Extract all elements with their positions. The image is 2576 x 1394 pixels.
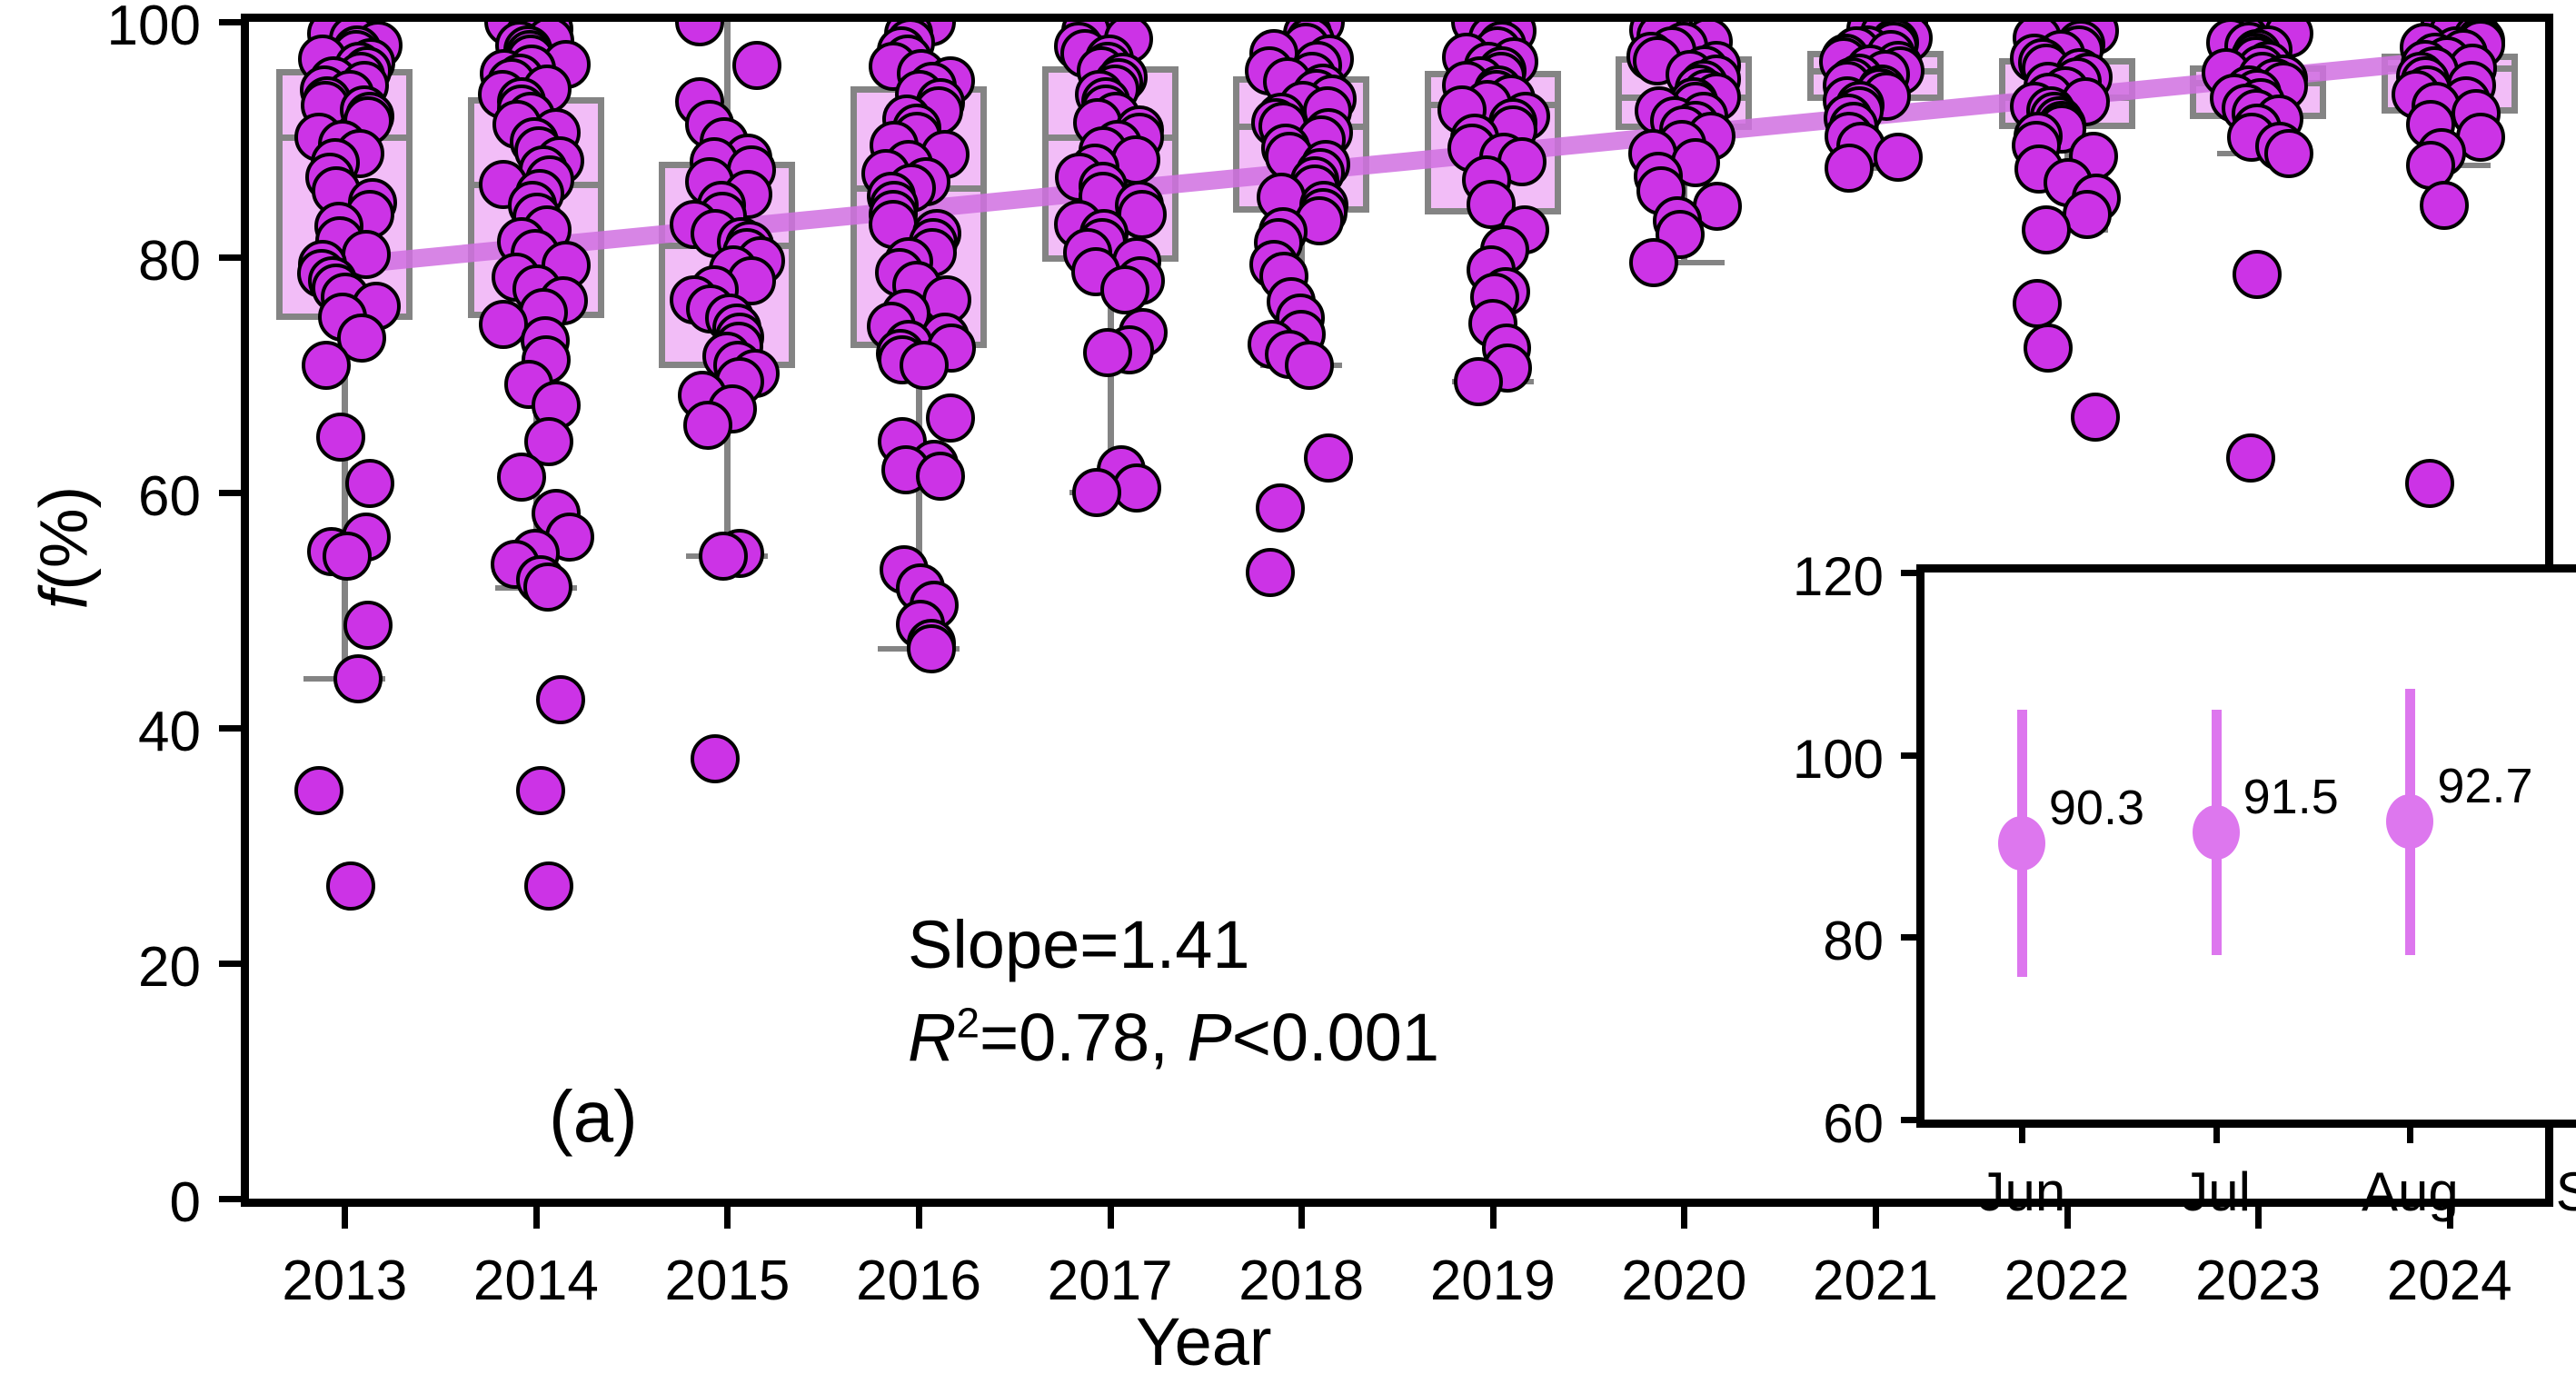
x-tick-label: 2023: [2158, 1249, 2358, 1313]
y-tick: [219, 725, 249, 732]
data-point: [302, 341, 351, 390]
y-tick: [219, 1196, 249, 1202]
inset-plot-axes: 90.391.592.794.6 6080100120 JunJulAugSep…: [1916, 564, 2576, 1128]
data-point: [732, 41, 781, 90]
x-tick-label: 2022: [1967, 1249, 2167, 1313]
data-point: [2405, 459, 2454, 508]
panel-a-label: (a): [549, 1080, 638, 1153]
data-point: [2022, 205, 2071, 254]
data-point: [683, 401, 732, 450]
data-point: [1825, 144, 1874, 193]
p-symbol: P: [1187, 1000, 1231, 1075]
inset-data-marker: [1998, 816, 2045, 871]
x-tick: [1681, 1199, 1687, 1229]
inset-value-label: 92.7: [2437, 758, 2532, 814]
inset-y-tick: [1901, 752, 1925, 759]
stats-annotation: Slope=1.41 R2=0.78, P<0.001: [908, 899, 1439, 1084]
x-tick-label: 2015: [627, 1249, 827, 1313]
x-tick-label: 2013: [244, 1249, 444, 1313]
x-tick-label: 2021: [1775, 1249, 1975, 1313]
inset-value-label: 90.3: [2049, 780, 2144, 836]
data-point: [1083, 328, 1132, 377]
x-tick: [533, 1199, 540, 1229]
inset-y-tick-label: 80: [1702, 910, 1884, 972]
inset-y-tick: [1901, 934, 1925, 941]
y-tick: [219, 254, 249, 261]
data-point: [316, 413, 365, 462]
inset-x-tick-label: Jun: [1931, 1160, 2113, 1223]
inset-y-tick-label: 100: [1702, 728, 1884, 791]
inset-y-tick: [1901, 1117, 1925, 1123]
r2-value: =0.78,: [980, 1000, 1187, 1075]
x-tick: [916, 1199, 922, 1229]
data-point: [345, 459, 394, 508]
data-point: [1454, 357, 1503, 406]
inset-y-tick-label: 60: [1702, 1092, 1884, 1155]
inset-x-tick: [2213, 1120, 2220, 1143]
figure-canvas: 020406080100 201320142015201620172018201…: [0, 0, 2576, 1394]
data-point: [2071, 393, 2120, 442]
inset-plot-clip: 90.391.592.794.6: [1925, 573, 2576, 1120]
data-point: [326, 861, 375, 911]
data-point: [1874, 133, 1923, 182]
x-axis-label: Year: [1136, 1309, 1272, 1376]
inset-y-tick: [1901, 570, 1925, 576]
x-tick-label: 2014: [436, 1249, 636, 1313]
data-point: [900, 341, 949, 390]
data-point: [1072, 468, 1121, 517]
p-value: <0.001: [1232, 1000, 1439, 1075]
data-point: [497, 453, 546, 502]
y-tick-label: 80: [0, 229, 201, 294]
data-point: [524, 861, 573, 911]
inset-x-tick: [2407, 1120, 2413, 1143]
x-tick: [724, 1199, 731, 1229]
data-point: [343, 601, 393, 650]
trend-line: [344, 59, 2449, 265]
r2-p-text: R2=0.78, P<0.001: [908, 991, 1439, 1084]
data-point: [294, 766, 343, 815]
slope-text: Slope=1.41: [908, 899, 1439, 991]
y-tick: [219, 961, 249, 967]
x-tick: [1298, 1199, 1305, 1229]
data-point: [691, 734, 740, 783]
y-tick: [219, 490, 249, 496]
main-plot-axes: 020406080100 201320142015201620172018201…: [241, 14, 2553, 1207]
x-tick-label: 2020: [1584, 1249, 1784, 1313]
y-tick-label: 20: [0, 935, 201, 1000]
inset-x-tick-label: Jul: [2125, 1160, 2307, 1223]
data-point: [2024, 324, 2073, 373]
inset-data-marker: [2193, 805, 2240, 860]
x-tick: [342, 1199, 348, 1229]
y-axis-label: f(%): [25, 398, 103, 698]
inset-x-tick-label: Aug: [2319, 1160, 2501, 1223]
data-point: [699, 532, 748, 581]
data-point: [1256, 483, 1305, 533]
x-tick-label: 2016: [819, 1249, 1019, 1313]
data-point: [2013, 279, 2062, 328]
data-point: [523, 563, 572, 612]
inset-value-label: 91.5: [2243, 769, 2339, 825]
x-tick: [1490, 1199, 1497, 1229]
y-axis-label-unit: (%): [26, 486, 102, 591]
y-axis-label-symbol: f: [26, 591, 102, 610]
data-point: [516, 766, 565, 815]
inset-x-tick-label: Sep: [2513, 1160, 2576, 1223]
data-point: [916, 452, 965, 501]
x-tick: [1108, 1199, 1114, 1229]
data-point: [536, 675, 585, 724]
data-point: [1246, 548, 1295, 597]
data-point: [2226, 433, 2275, 483]
data-point: [907, 624, 956, 673]
y-tick-label: 0: [0, 1170, 201, 1235]
r-symbol: R: [908, 1000, 956, 1075]
x-tick: [1873, 1199, 1879, 1229]
y-tick: [219, 19, 249, 25]
x-tick-label: 2024: [2350, 1249, 2550, 1313]
data-point: [333, 654, 383, 703]
inset-data-marker: [2386, 794, 2433, 849]
y-tick-label: 100: [0, 0, 201, 58]
x-tick-label: 2019: [1393, 1249, 1593, 1313]
inset-x-tick: [2019, 1120, 2025, 1143]
r-exponent: 2: [956, 999, 980, 1046]
inset-y-tick-label: 120: [1702, 545, 1884, 608]
data-point: [323, 532, 372, 581]
y-tick-label: 40: [0, 700, 201, 764]
